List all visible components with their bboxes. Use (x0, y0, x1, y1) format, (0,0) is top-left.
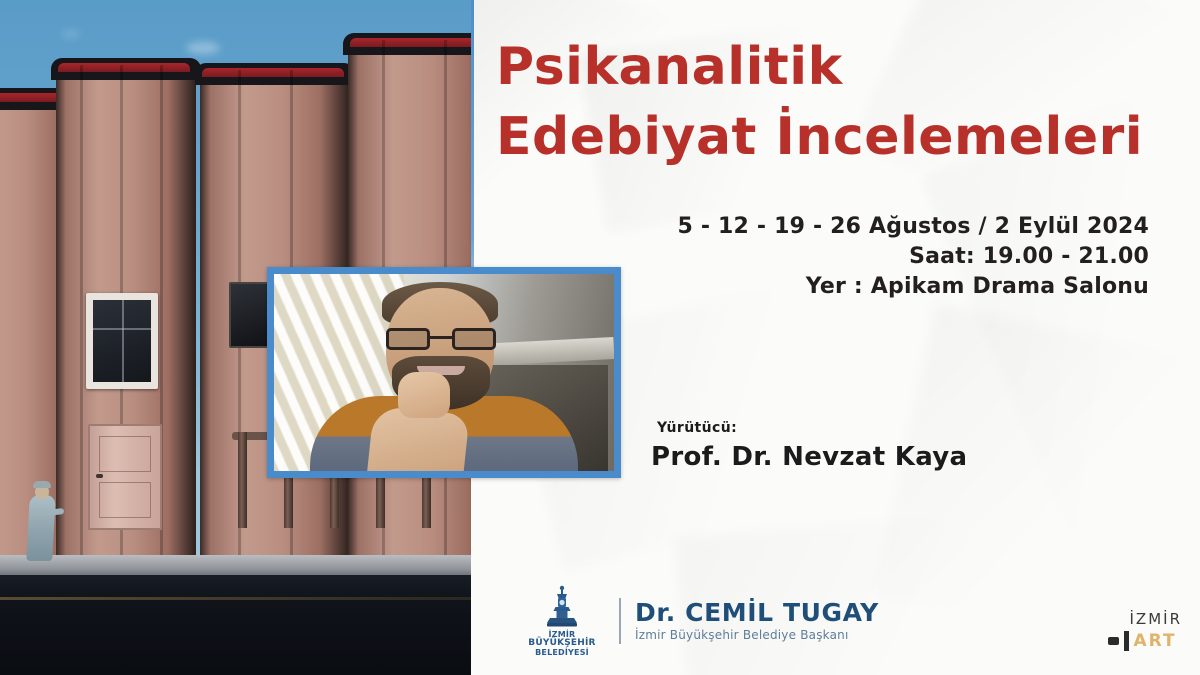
event-time: Saat: 19.00 - 21.00 (677, 242, 1149, 272)
footer-municipality: İZMİR BÜYÜKŞEHİR BELEDİYESİ Dr. CEMİL TU… (519, 584, 879, 657)
izmir-art-top-text: İZMİR (1130, 610, 1183, 628)
pedestrian-figure (26, 479, 56, 563)
izmir-art-bottom-row: ART (1108, 631, 1177, 651)
mayor-name: Dr. CEMİL TUGAY (635, 599, 879, 627)
title-line-2: Edebiyat İncelemeleri (496, 102, 1143, 172)
speaker-portrait (267, 267, 621, 478)
bar-icon (1124, 631, 1129, 651)
presenter-block: Yürütücü: Prof. Dr. Nevzat Kaya (651, 420, 967, 472)
event-dates: 5 - 12 - 19 - 26 Ağustos / 2 Eylül 2024 (677, 212, 1149, 242)
municipality-line-2: BÜYÜKŞEHİR (528, 639, 595, 648)
building-window (86, 293, 158, 389)
event-details: 5 - 12 - 19 - 26 Ağustos / 2 Eylül 2024 … (677, 212, 1149, 302)
municipality-logo-text: İZMİR BÜYÜKŞEHİR BELEDİYESİ (528, 630, 595, 657)
municipality-line-3: BELEDİYESİ (528, 648, 595, 657)
presenter-role-label: Yürütücü: (657, 420, 967, 436)
glasses-icon (386, 328, 496, 350)
event-venue: Yer : Apikam Drama Salonu (677, 272, 1149, 302)
izmir-art-bottom-text: ART (1134, 631, 1177, 651)
presenter-name: Prof. Dr. Nevzat Kaya (651, 442, 967, 472)
izmir-art-logo: İZMİR ART (1108, 610, 1183, 651)
building-window-dark (229, 282, 271, 348)
dot-icon (1108, 637, 1119, 645)
poster: Psikanalitik Edebiyat İncelemeleri 5 - 1… (0, 0, 1200, 675)
mayor-block: Dr. CEMİL TUGAY İzmir Büyükşehir Belediy… (635, 599, 879, 642)
building-door (88, 424, 162, 530)
clock-tower-icon (539, 584, 585, 628)
title-line-1: Psikanalitik (496, 32, 1143, 102)
page-title: Psikanalitik Edebiyat İncelemeleri (496, 32, 1143, 172)
municipality-logo: İZMİR BÜYÜKŞEHİR BELEDİYESİ (519, 584, 605, 657)
mayor-title: İzmir Büyükşehir Belediye Başkanı (635, 628, 879, 642)
footer-divider (619, 598, 621, 644)
road (0, 575, 471, 675)
